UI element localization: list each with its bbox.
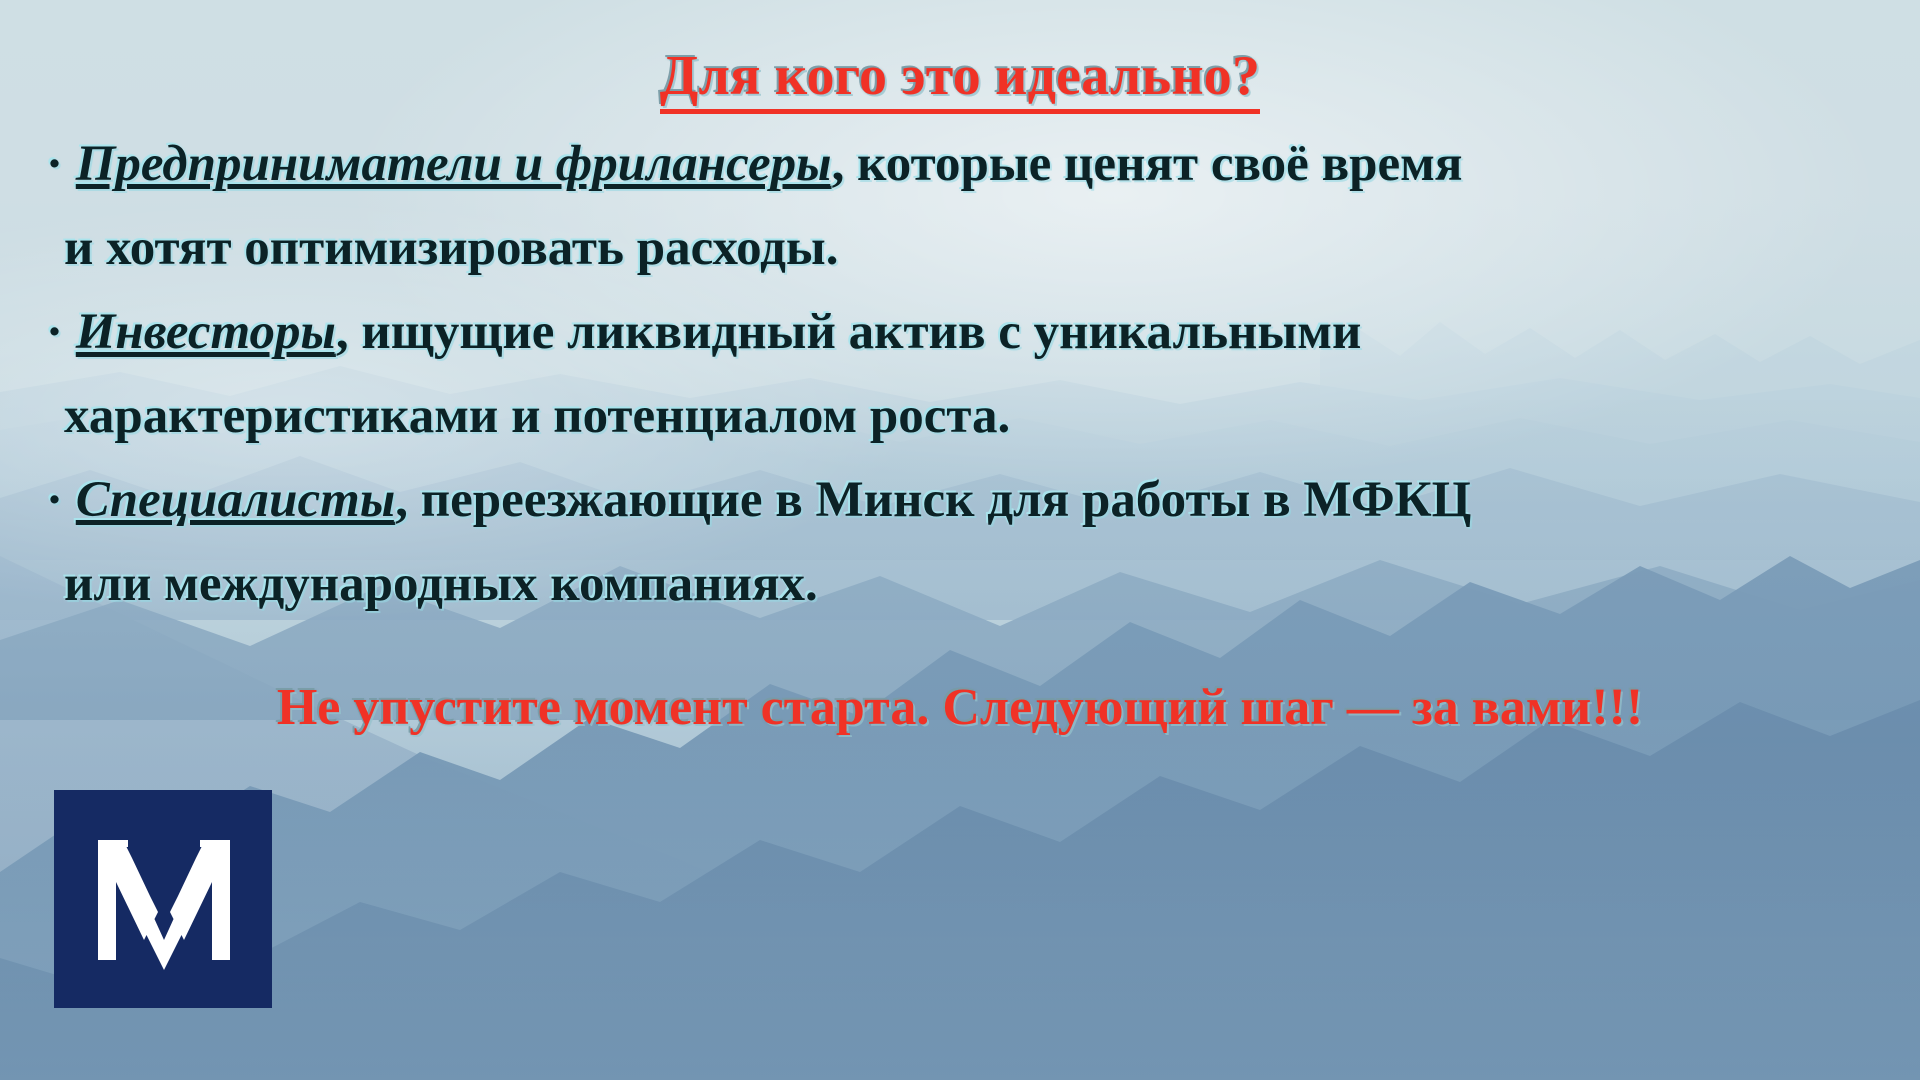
bullet-marker: · bbox=[46, 472, 63, 528]
promo-slide: Для кого это идеально? · Предприниматели… bbox=[0, 0, 1920, 1080]
bullet-item-1-continuation: и хотят оптимизировать расходы. bbox=[46, 206, 1886, 290]
bullet-item-3-continuation: или международных компаниях. bbox=[46, 542, 1886, 626]
bullet-keyword: Инвесторы bbox=[76, 304, 336, 360]
bullet-item-1: · Предприниматели и фрилансеры, которые … bbox=[46, 122, 1886, 206]
slide-content: Для кого это идеально? · Предприниматели… bbox=[0, 0, 1920, 1080]
logo-monogram-label: MW bbox=[54, 1008, 55, 1009]
bullet-marker: · bbox=[46, 304, 63, 360]
bullet-item-2: · Инвесторы, ищущие ликвидный актив с ун… bbox=[46, 290, 1886, 374]
bullet-text: , ищущие ликвидный актив с уникальными bbox=[336, 304, 1361, 360]
brand-logo: MW bbox=[54, 790, 272, 1008]
slide-title: Для кого это идеально? bbox=[0, 44, 1920, 108]
bullet-keyword: Предприниматели и фрилансеры bbox=[76, 136, 832, 192]
bullet-text: , которые ценят своё время bbox=[832, 136, 1463, 192]
slide-title-text: Для кого это идеально? bbox=[660, 45, 1260, 114]
bullet-text: , переезжающие в Минск для работы в МФКЦ bbox=[395, 472, 1471, 528]
call-to-action-text: Не упустите момент старта. Следующий шаг… bbox=[0, 678, 1920, 737]
bullet-item-2-continuation: характеристиками и потенциалом роста. bbox=[46, 374, 1886, 458]
bullet-keyword: Специалисты bbox=[76, 472, 395, 528]
mw-monogram-icon bbox=[54, 790, 272, 1008]
bullet-marker: · bbox=[46, 136, 63, 192]
bullet-item-3: · Специалисты, переезжающие в Минск для … bbox=[46, 458, 1886, 542]
bullet-list: · Предприниматели и фрилансеры, которые … bbox=[46, 122, 1886, 626]
